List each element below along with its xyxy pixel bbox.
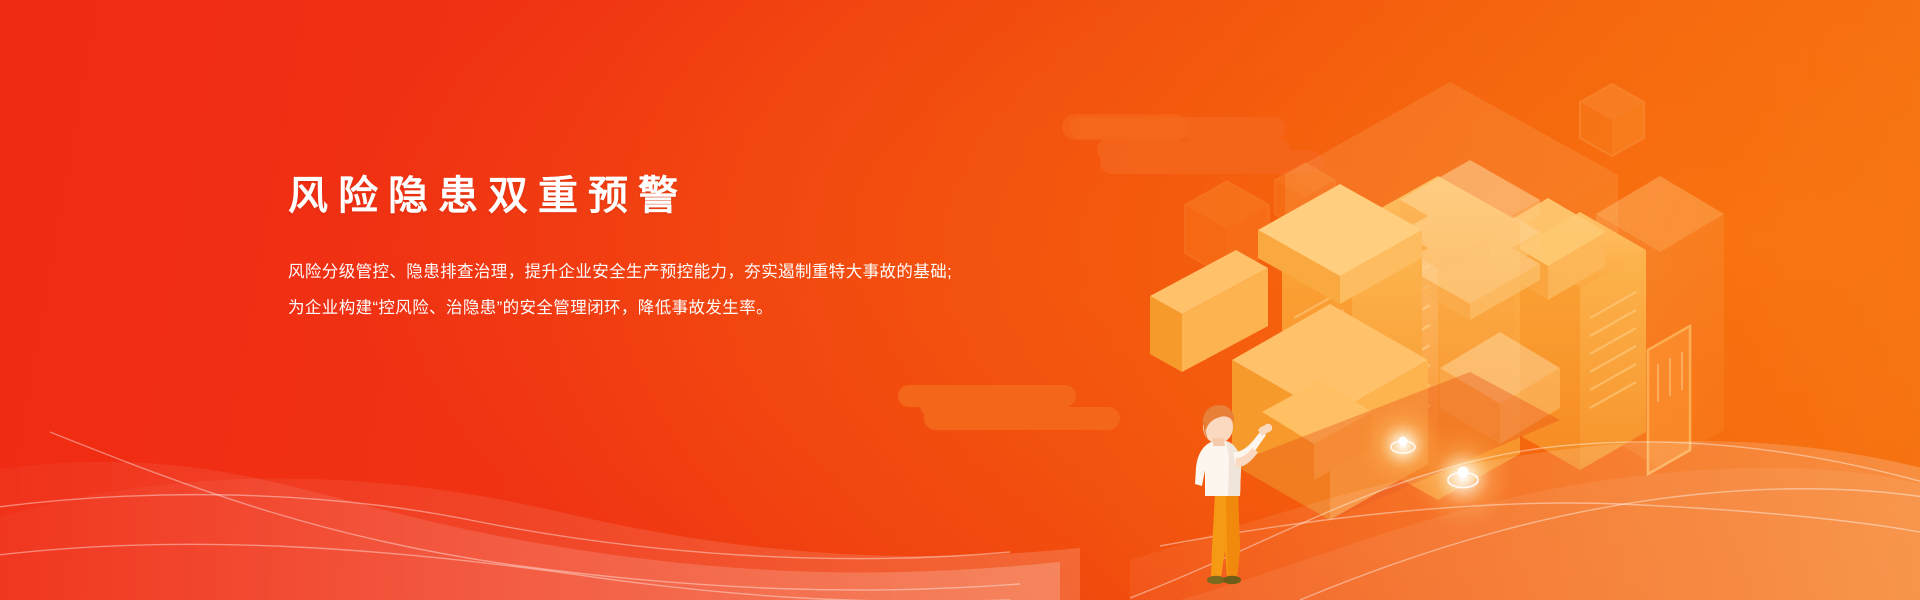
page-title: 风险隐患双重预警 xyxy=(288,176,988,216)
banner-copy: 风险隐患双重预警 风险分级管控、隐患排查治理，提升企业安全生产预控能力，夯实遏制… xyxy=(288,176,988,326)
hero-banner: 风险隐患双重预警 风险分级管控、隐患排查治理，提升企业安全生产预控能力，夯实遏制… xyxy=(0,0,1920,600)
subtitle-line-2: 为企业构建“控风险、治隐患”的安全管理闭环，降低事故发生率。 xyxy=(288,290,988,326)
person-pointing xyxy=(1180,400,1340,600)
subtitle-line-1: 风险分级管控、隐患排查治理，提升企业安全生产预控能力，夯实遏制重特大事故的基础; xyxy=(288,254,988,290)
banner-subtitle: 风险分级管控、隐患排查治理，提升企业安全生产预控能力，夯实遏制重特大事故的基础;… xyxy=(288,254,988,326)
